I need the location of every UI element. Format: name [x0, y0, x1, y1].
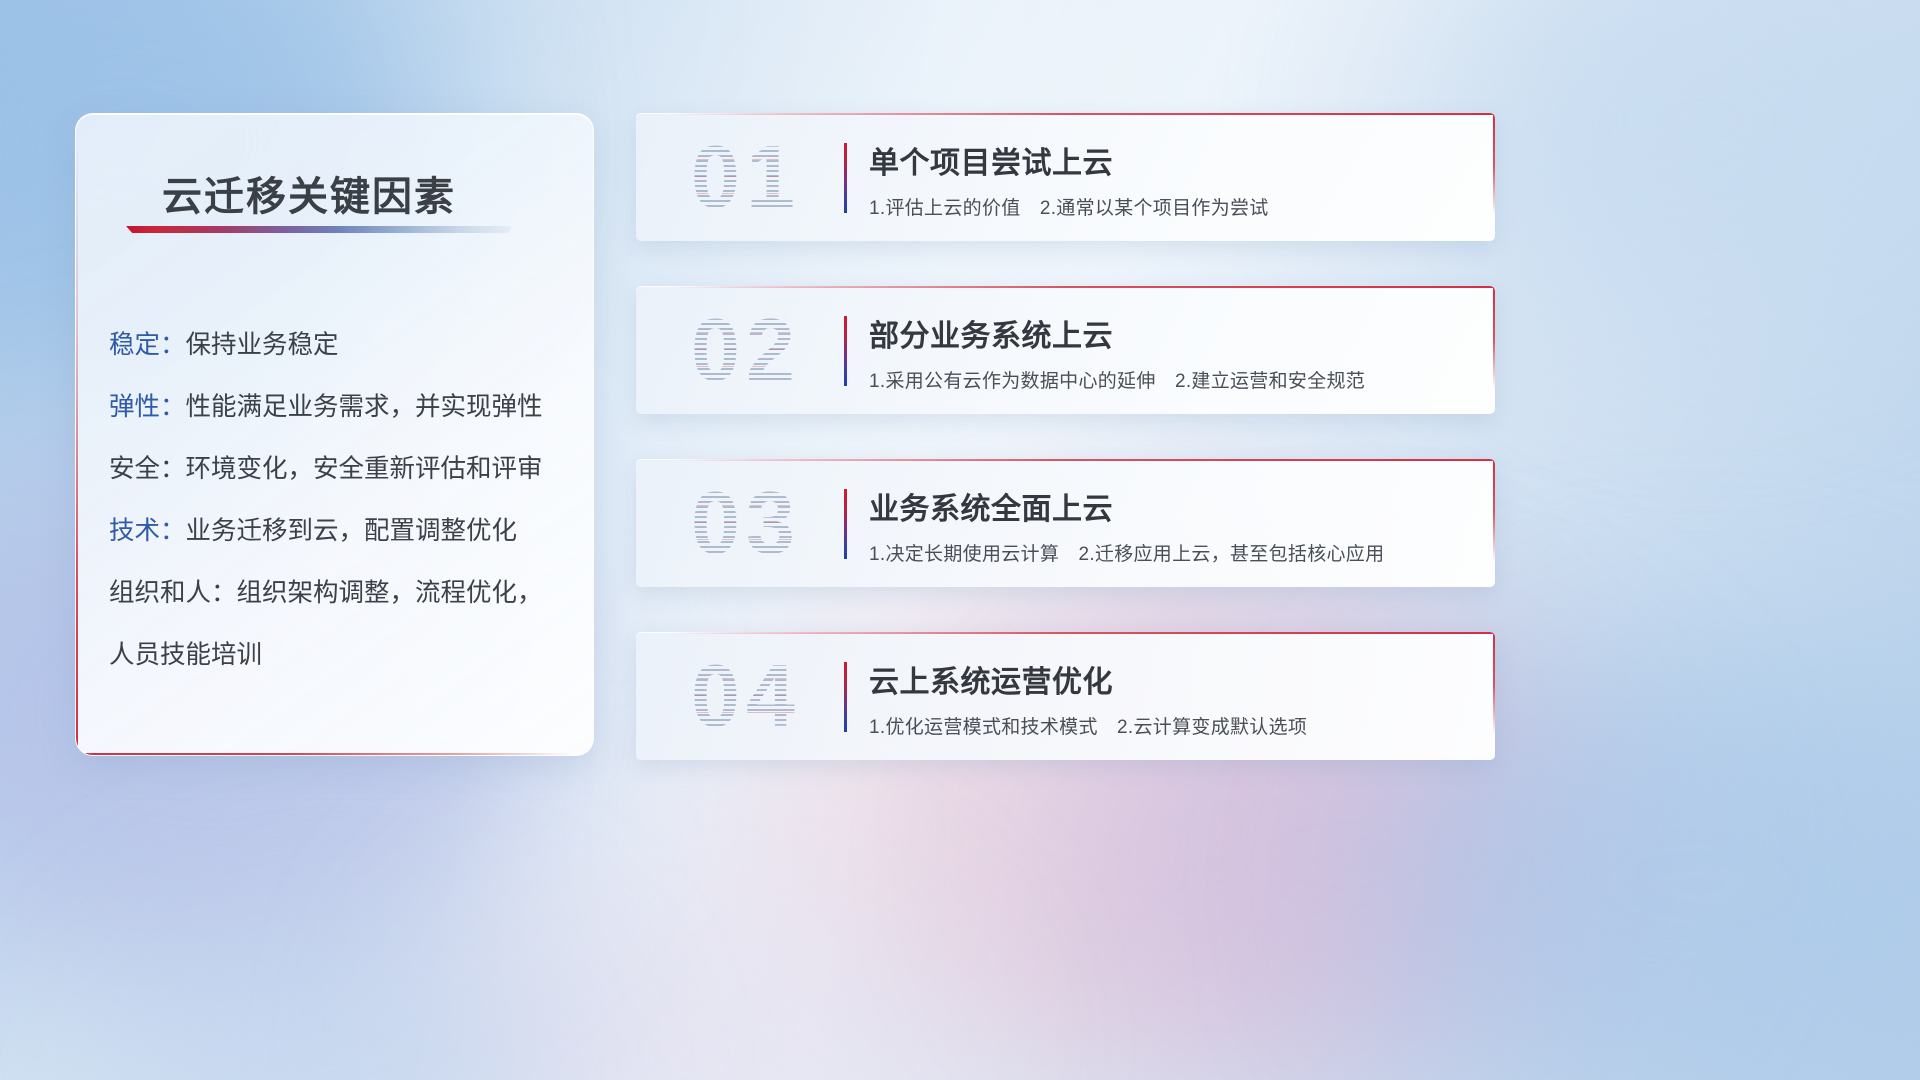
stage-subtitle: 1.评估上云的价值 2.通常以某个项目作为尝试	[869, 193, 1269, 220]
stage-card[interactable]: 03业务系统全面上云1.决定长期使用云计算 2.迁移应用上云，甚至包括核心应用	[636, 459, 1495, 587]
factor-row: 人员技能培训	[109, 624, 575, 686]
card-top-accent-edge	[668, 632, 1495, 634]
card-right-accent-edge	[1493, 632, 1495, 734]
stage-title: 云上系统运营优化	[869, 657, 1113, 701]
factor-label: 弹性：	[109, 393, 186, 421]
page-title: 云迁移关键因素	[162, 164, 456, 222]
stage-number: 01	[658, 125, 834, 229]
factor-list: 稳定：保持业务稳定弹性：性能满足业务需求，并实现弹性安全：环境变化，安全重新评估…	[109, 314, 575, 686]
stage-subtitle: 1.采用公有云作为数据中心的延伸 2.建立运营和安全规范	[869, 366, 1365, 393]
stage-title: 部分业务系统上云	[869, 311, 1113, 355]
factor-description: 组织架构调整，流程优化，	[237, 579, 543, 607]
card-right-accent-edge	[1493, 459, 1495, 561]
stage-subtitle: 1.决定长期使用云计算 2.迁移应用上云，甚至包括核心应用	[869, 539, 1384, 566]
factor-description: 业务迁移到云，配置调整优化	[186, 517, 518, 545]
factor-description: 环境变化，安全重新评估和评审	[186, 455, 543, 483]
stage-number: 04	[658, 644, 834, 748]
factor-row: 弹性：性能满足业务需求，并实现弹性	[109, 376, 575, 438]
stage-divider-bar	[844, 489, 847, 559]
factor-row: 组织和人：组织架构调整，流程优化，	[109, 562, 575, 624]
stage-divider-bar	[844, 316, 847, 386]
factor-label: 组织和人：	[109, 579, 237, 607]
stage-divider-bar	[844, 143, 847, 213]
factor-label: 稳定：	[109, 331, 186, 359]
stage-number: 03	[658, 471, 834, 575]
factor-row: 稳定：保持业务稳定	[109, 314, 575, 376]
stage-card[interactable]: 02部分业务系统上云1.采用公有云作为数据中心的延伸 2.建立运营和安全规范	[636, 286, 1495, 414]
panel-left-accent-edge	[76, 128, 78, 755]
stage-card[interactable]: 01单个项目尝试上云1.评估上云的价值 2.通常以某个项目作为尝试	[636, 113, 1495, 241]
card-top-accent-edge	[668, 113, 1495, 115]
stage-number: 02	[658, 298, 834, 402]
stage-title: 单个项目尝试上云	[869, 138, 1113, 182]
stage-title: 业务系统全面上云	[869, 484, 1113, 528]
stage-card[interactable]: 04云上系统运营优化1.优化运营模式和技术模式 2.云计算变成默认选项	[636, 632, 1495, 760]
factor-description: 性能满足业务需求，并实现弹性	[186, 393, 543, 421]
card-right-accent-edge	[1493, 113, 1495, 215]
card-top-accent-edge	[668, 459, 1495, 461]
card-right-accent-edge	[1493, 286, 1495, 388]
migration-stage-list: 01单个项目尝试上云1.评估上云的价值 2.通常以某个项目作为尝试02部分业务系…	[636, 113, 1846, 805]
factor-label: 技术：	[109, 517, 186, 545]
factor-label: 安全：	[109, 455, 186, 483]
panel-bottom-accent-edge	[76, 753, 573, 755]
factor-row: 技术：业务迁移到云，配置调整优化	[109, 500, 575, 562]
title-underline-gradient	[126, 226, 512, 233]
factor-description: 保持业务稳定	[186, 331, 339, 359]
factor-row: 安全：环境变化，安全重新评估和评审	[109, 438, 575, 500]
key-factors-panel: 云迁移关键因素 稳定：保持业务稳定弹性：性能满足业务需求，并实现弹性安全：环境变…	[75, 113, 594, 756]
stage-divider-bar	[844, 662, 847, 732]
stage-subtitle: 1.优化运营模式和技术模式 2.云计算变成默认选项	[869, 712, 1307, 739]
card-top-accent-edge	[668, 286, 1495, 288]
factor-description: 人员技能培训	[109, 641, 262, 669]
